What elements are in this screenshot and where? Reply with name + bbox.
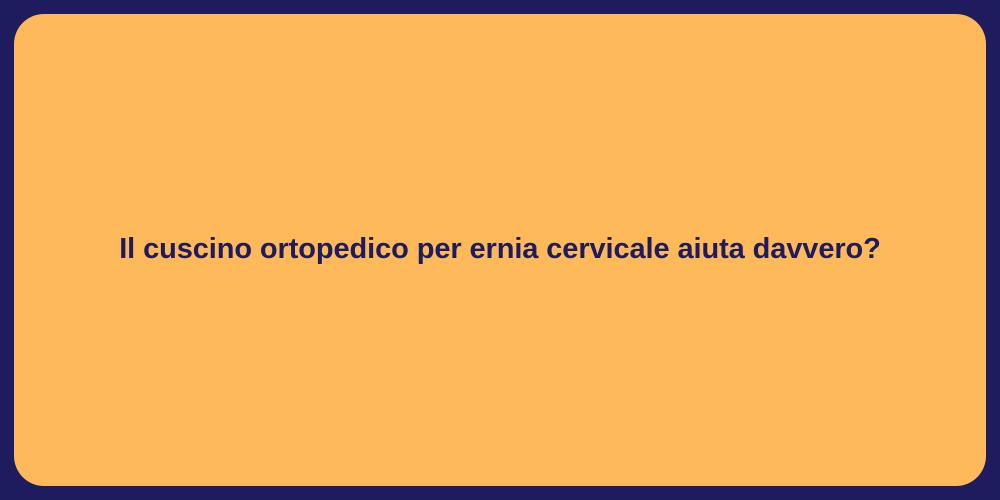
page-background: Il cuscino ortopedico per ernia cervical… <box>0 0 1000 500</box>
headline-card: Il cuscino ortopedico per ernia cervical… <box>14 14 986 486</box>
page-title: Il cuscino ortopedico per ernia cervical… <box>119 231 881 269</box>
